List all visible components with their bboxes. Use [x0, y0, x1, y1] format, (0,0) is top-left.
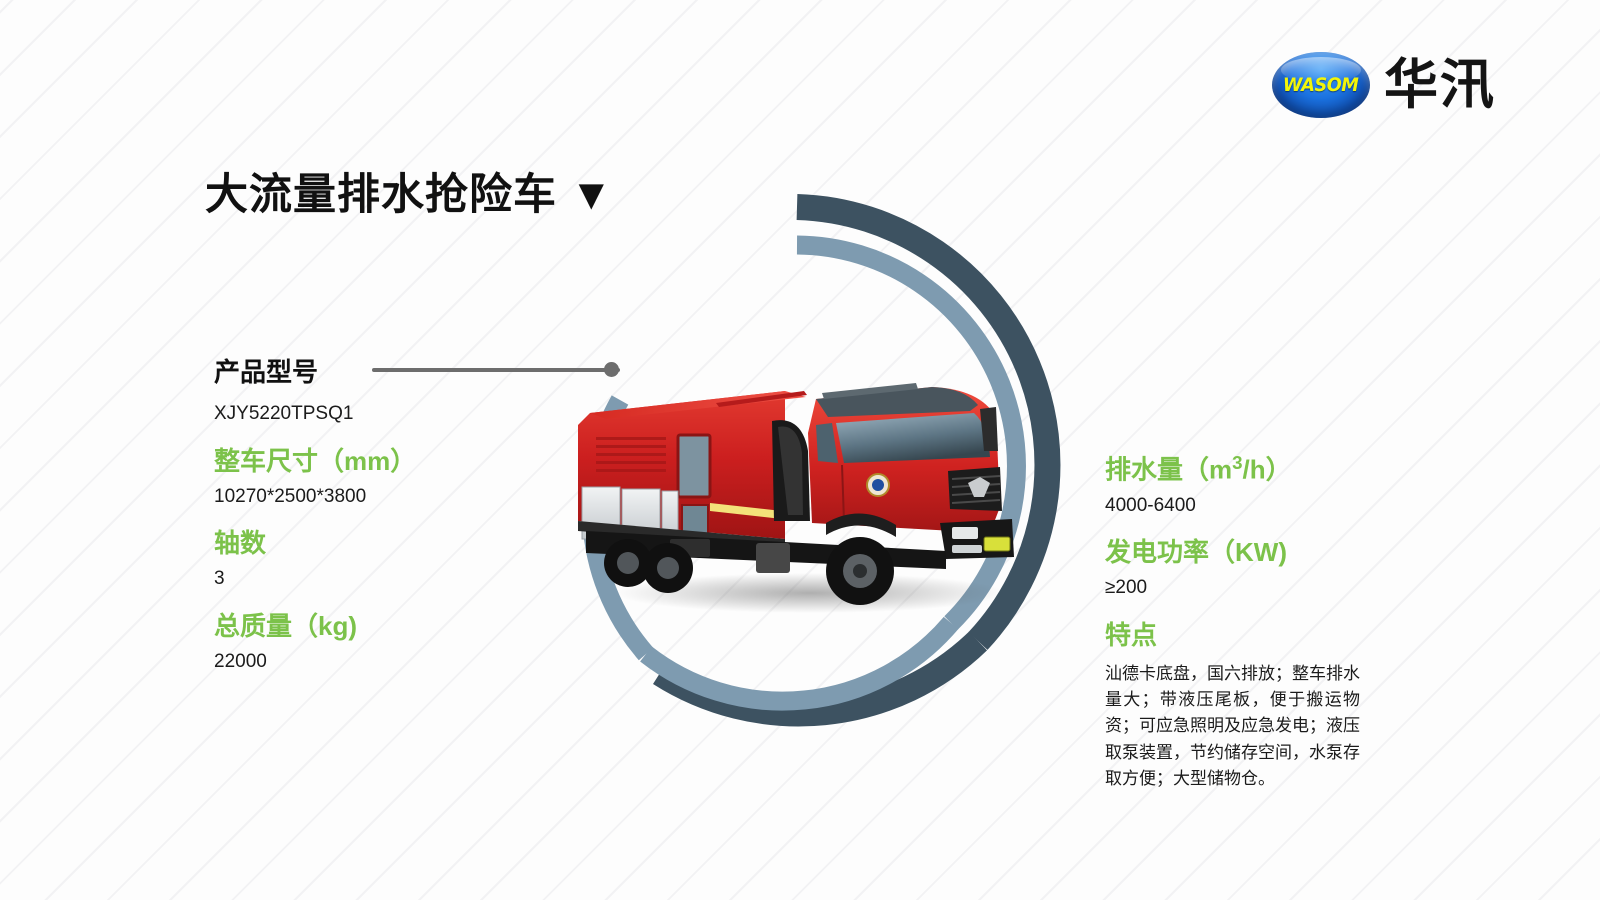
truck-emblem-center: [872, 479, 884, 491]
spec-label-discharge: 排水量（m3/h）: [1105, 452, 1375, 486]
spec-value-model: XJY5220TPSQ1: [214, 402, 544, 427]
spec-label-features: 特点: [1105, 621, 1375, 651]
spec-column-left: 产品型号 XJY5220TPSQ1 整车尺寸（mm） 10270*2500*38…: [214, 352, 544, 694]
spec-column-right: 排水量（m3/h） 4000-6400 发电功率（KW) ≥200 特点 汕德卡…: [1105, 452, 1375, 792]
spec-label-discharge-sup: 3: [1232, 452, 1242, 473]
product-photo-drainage-truck: [560, 325, 1030, 625]
logo-wordmark: WASOM: [1283, 74, 1359, 96]
logo-company-name-cn: 华汛: [1384, 58, 1496, 112]
model-connector-dot: [604, 362, 619, 377]
spec-value-discharge: 4000-6400: [1105, 494, 1375, 519]
spec-value-generator-power: ≥200: [1105, 576, 1375, 601]
spec-value-dimensions: 10270*2500*3800: [214, 485, 544, 510]
page-title: 大流量排水抢险车 ▼: [205, 160, 614, 222]
spec-label-model: 产品型号: [214, 352, 318, 389]
truck-license-plate: [984, 537, 1010, 551]
arc-light-lower: [646, 623, 951, 701]
spec-label-discharge-post: /h）: [1243, 455, 1292, 485]
truck-headlight-right: [952, 545, 982, 553]
model-connector-line: [372, 368, 620, 372]
truck-body-window: [678, 435, 710, 497]
spec-label-discharge-pre: 排水量（m: [1105, 455, 1232, 485]
spec-value-features: 汕德卡底盘，国六排放；整车排水量大；带液压尾板，便于搬运物资；可应急照明及应急发…: [1105, 661, 1360, 793]
truck-wheel-rear-2: [643, 543, 693, 593]
spec-label-generator-power: 发电功率（KW): [1105, 538, 1375, 568]
brand-logo: WASOM 华汛: [1272, 46, 1504, 124]
spec-label-gross-weight: 总质量（kg): [214, 612, 544, 642]
spec-label-dimensions: 整车尺寸（mm）: [214, 447, 544, 477]
spec-label-axles: 轴数: [214, 529, 544, 559]
truck-wheel-front: [826, 537, 894, 605]
truck-fuel-tank: [756, 543, 790, 573]
wasom-badge-icon: WASOM: [1272, 52, 1370, 118]
slide-canvas: WASOM 华汛 大流量排水抢险车 ▼: [0, 0, 1600, 900]
arc-dark-lower: [660, 641, 978, 713]
truck-headlight-left: [952, 527, 978, 539]
spec-value-gross-weight: 22000: [214, 650, 544, 675]
spec-item-model: 产品型号: [214, 352, 544, 386]
spec-value-axles: 3: [214, 567, 544, 592]
